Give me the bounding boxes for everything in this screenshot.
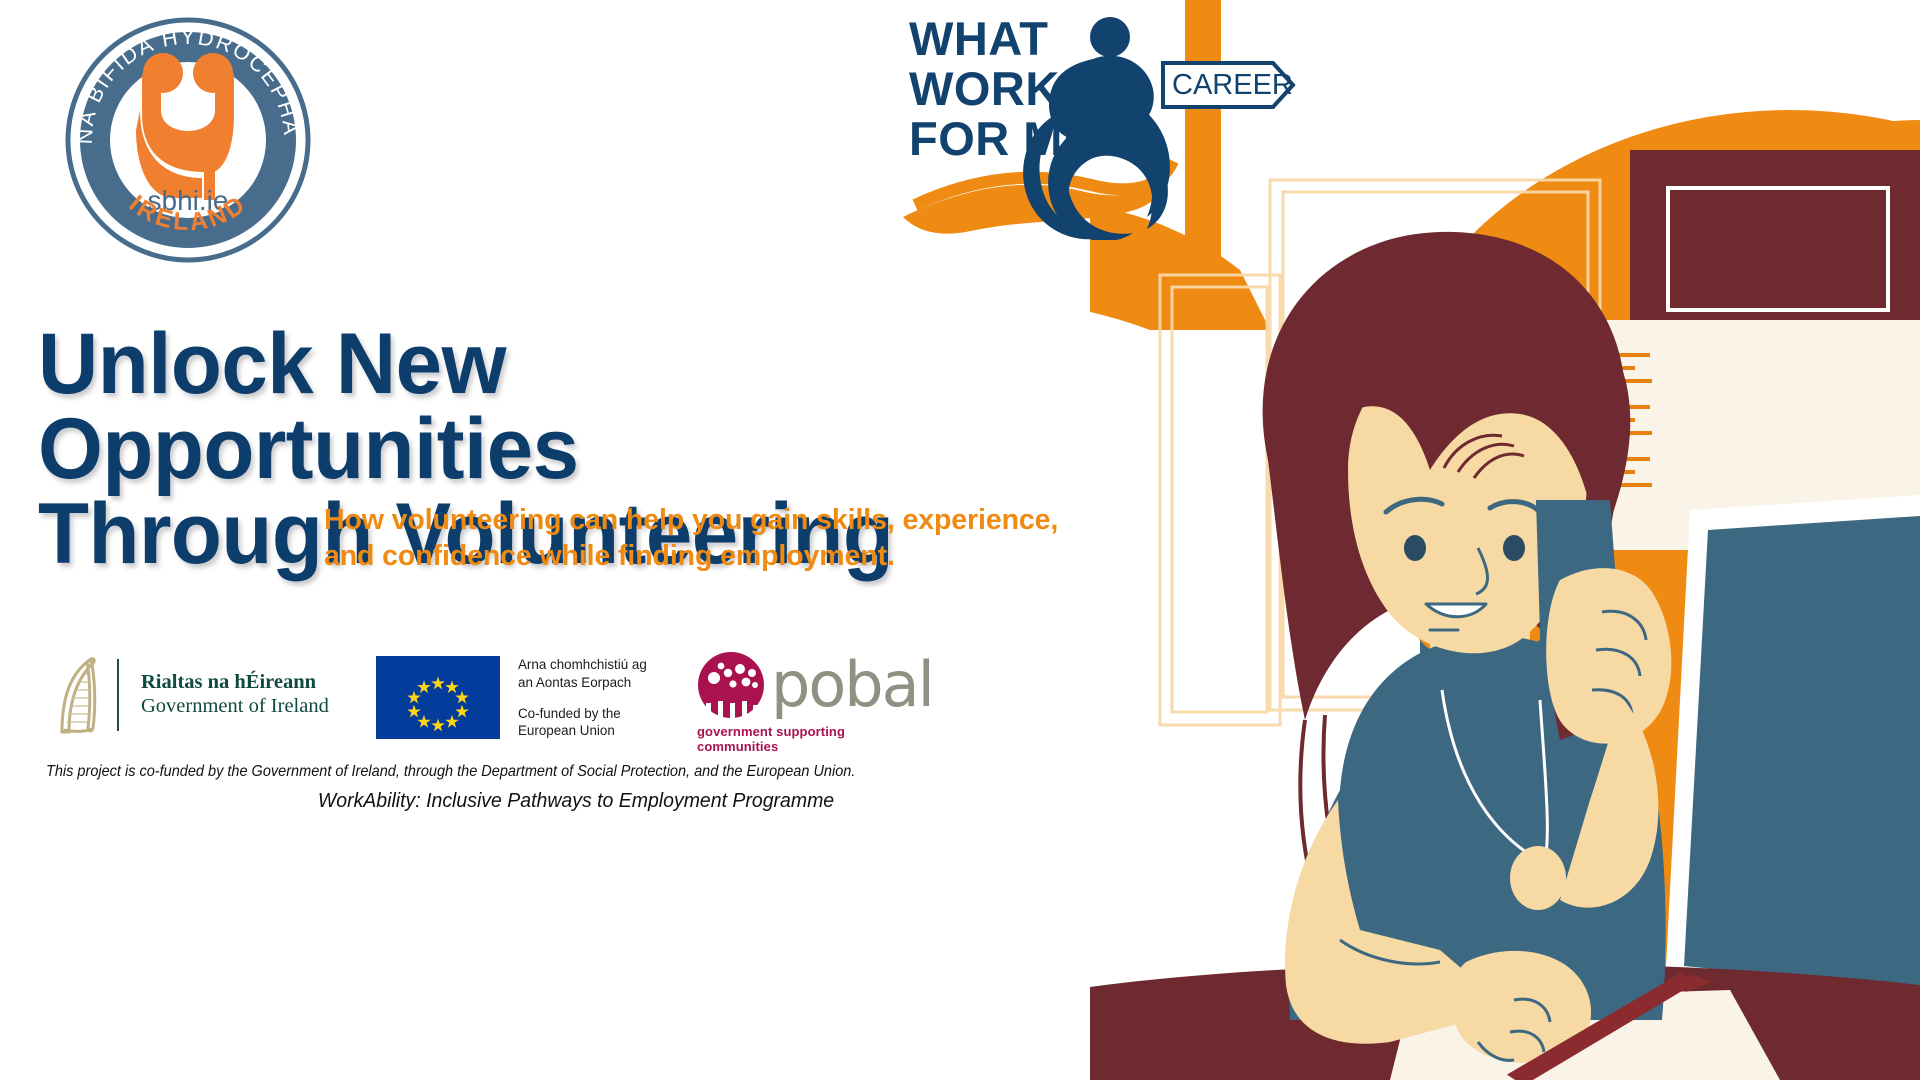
headline-line-1: Unlock New Opportunities	[38, 316, 579, 497]
eu-label-irish-line2: an Aontas Eorpach	[518, 674, 647, 692]
programme-name: WorkAbility: Inclusive Pathways to Emplo…	[73, 789, 1080, 813]
subhead-line-2: and confidence while finding employment.	[324, 539, 1114, 575]
divider	[117, 659, 119, 731]
funder-logo-row: Rialtas na hÉireann Government of Irelan…	[0, 648, 1100, 758]
signpost-label: CAREER	[1172, 69, 1293, 101]
pendant	[1510, 846, 1566, 910]
pobal-mark-icon	[697, 651, 765, 719]
laptop	[1665, 495, 1920, 1010]
goi-label-irish: Rialtas na hÉireann	[141, 671, 329, 695]
irish-harp-icon	[55, 656, 99, 734]
eu-flag-icon	[376, 656, 500, 739]
eu-label-english-line1: Co-funded by the	[518, 705, 647, 723]
eu-label-irish-line1: Arna chomhchistiú ag	[518, 656, 647, 674]
wwfm-line1: WHAT	[909, 12, 1048, 65]
funding-statement: This project is co-funded by the Governm…	[46, 763, 1032, 781]
eu-label-english-line2: European Union	[518, 722, 647, 740]
spacer	[518, 692, 647, 705]
career-signpost: CAREER	[1163, 63, 1293, 240]
what-works-for-me-logo: WHAT WORKS FOR ME CAREER	[895, 5, 1315, 240]
sbhi-logo: sbhi.ie SPINA BIFIDA HYDROCEPHALUS IRELA…	[62, 14, 314, 266]
sbhi-logo-svg: sbhi.ie SPINA BIFIDA HYDROCEPHALUS IRELA…	[62, 14, 314, 266]
pobal-tagline: government supporting communities	[697, 724, 912, 754]
pobal-wordmark: pobal	[771, 660, 933, 710]
eye	[1404, 535, 1426, 561]
pobal-logo: pobal government supporting communities	[697, 648, 912, 754]
goi-label-english: Government of Ireland	[141, 695, 329, 719]
page-subtitle: How volunteering can help you gain skill…	[324, 503, 1114, 575]
government-of-ireland-logo: Rialtas na hÉireann Government of Irelan…	[55, 652, 329, 738]
signpost-pole	[1191, 89, 1209, 240]
eye	[1503, 535, 1525, 561]
european-union-logo: Arna chomhchistiú ag an Aontas Eorpach C…	[376, 656, 647, 740]
hand-holding-phone	[1546, 568, 1671, 743]
subhead-line-1: How volunteering can help you gain skill…	[324, 504, 1058, 536]
poster-canvas: sbhi.ie SPINA BIFIDA HYDROCEPHALUS IRELA…	[0, 0, 1920, 1080]
wwfm-logo-svg: WHAT WORKS FOR ME CAREER	[895, 5, 1315, 240]
